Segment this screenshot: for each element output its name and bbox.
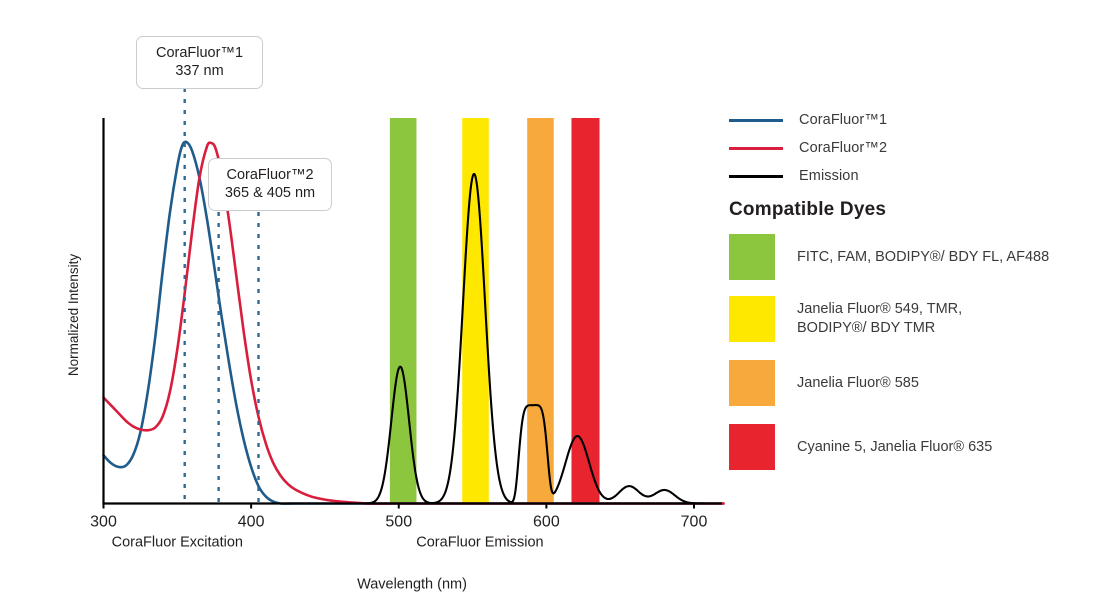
x-axis-title: Wavelength (nm) [357, 577, 467, 593]
orange-band [527, 118, 554, 504]
legend-item-corafluor1: CoraFluor™1 [729, 106, 1101, 134]
x-axis-tick-label-400: 400 [238, 514, 265, 531]
compatible-dyes-list: FITC, FAM, BODIPY®/ BDY FL, AF488 Janeli… [729, 234, 1109, 486]
corafluor1-callout: CoraFluor™1 337 nm [136, 36, 263, 89]
legend-label-emission: Emission [799, 168, 859, 184]
dye-color-swatch-red [729, 424, 775, 470]
dye-label-fitc: FITC, FAM, BODIPY®/ BDY FL, AF488 [797, 248, 1049, 267]
y-axis-title: Normalized Intensity [66, 254, 81, 377]
dye-label-cyanine5-line1: Cyanine 5, Janelia Fluor® 635 [797, 439, 992, 455]
dye-label-cyanine5: Cyanine 5, Janelia Fluor® 635 [797, 438, 992, 457]
legend-label-corafluor2: CoraFluor™2 [799, 140, 887, 156]
emission-region-label: CoraFluor Emission [416, 535, 543, 551]
dye-item-fitc: FITC, FAM, BODIPY®/ BDY FL, AF488 [729, 234, 1109, 280]
dye-label-janelia549-line1: Janelia Fluor® 549, TMR, [797, 300, 962, 319]
red-band [571, 118, 599, 504]
x-axis-tick-label-700: 700 [681, 514, 708, 531]
dye-color-swatch-yellow [729, 296, 775, 342]
dye-label-janelia549-line2: BODIPY®/ BDY TMR [797, 319, 962, 338]
legend-line-swatch-emission [729, 175, 783, 178]
corafluor1-callout-line2: 337 nm [149, 62, 250, 80]
x-axis-tick-label-300: 300 [90, 514, 117, 531]
dye-label-janelia585-line1: Janelia Fluor® 585 [797, 375, 919, 391]
dye-color-swatch-green [729, 234, 775, 280]
x-axis-tick-label-500: 500 [385, 514, 412, 531]
dye-item-janelia549: Janelia Fluor® 549, TMR, BODIPY®/ BDY TM… [729, 296, 1109, 342]
corafluor2-callout-line2: 365 & 405 nm [221, 184, 319, 202]
dye-color-swatch-orange [729, 360, 775, 406]
series-legend: CoraFluor™1 CoraFluor™2 Emission [729, 106, 1101, 190]
dye-item-cyanine5: Cyanine 5, Janelia Fluor® 635 [729, 424, 1109, 470]
figure-root: 300400500600700CoraFluor ExcitationCoraF… [0, 0, 1110, 612]
corafluor2-callout: CoraFluor™2 365 & 405 nm [208, 158, 332, 211]
legend-line-swatch-corafluor1 [729, 119, 783, 122]
legend-item-emission: Emission [729, 162, 1101, 190]
legend-item-corafluor2: CoraFluor™2 [729, 134, 1101, 162]
x-axis-tick-label-600: 600 [533, 514, 560, 531]
dye-item-janelia585: Janelia Fluor® 585 [729, 360, 1109, 406]
compatible-dyes-heading: Compatible Dyes [729, 199, 886, 221]
dye-label-fitc-line1: FITC, FAM, BODIPY®/ BDY FL, AF488 [797, 249, 1049, 265]
corafluor2-callout-line1: CoraFluor™2 [221, 166, 319, 184]
excitation-marker-lines [185, 88, 259, 504]
axis-region-labels: CoraFluor ExcitationCoraFluor Emission [112, 535, 544, 551]
x-axis-ticks: 300400500600700 [90, 504, 707, 531]
excitation-region-label: CoraFluor Excitation [112, 535, 243, 551]
legend-label-corafluor1: CoraFluor™1 [799, 112, 887, 128]
legend-line-swatch-corafluor2 [729, 147, 783, 150]
dye-label-janelia585: Janelia Fluor® 585 [797, 374, 919, 393]
dye-label-janelia549: Janelia Fluor® 549, TMR, BODIPY®/ BDY TM… [797, 300, 962, 338]
corafluor1-callout-line1: CoraFluor™1 [149, 44, 250, 62]
